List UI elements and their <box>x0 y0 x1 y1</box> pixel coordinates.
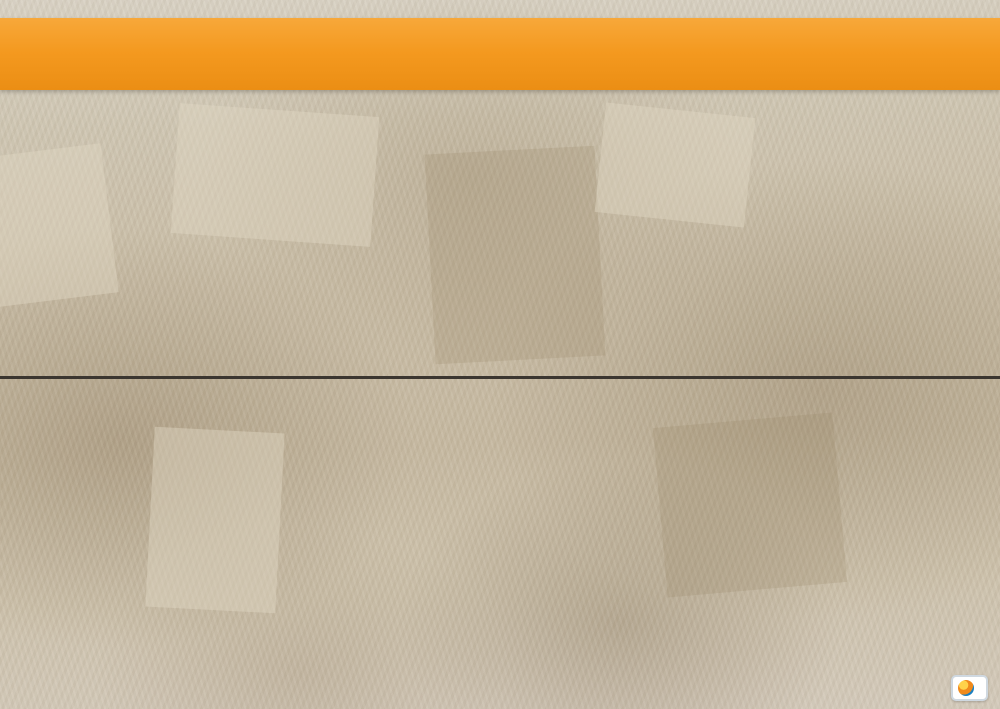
daydream-logo <box>951 675 988 703</box>
bg-ghost-sign <box>595 102 756 227</box>
bg-ghost-sign <box>0 143 119 307</box>
timeline-spine <box>0 376 1000 379</box>
bg-ghost-sign <box>425 146 606 365</box>
daydream-mark-icon <box>958 680 974 696</box>
logo-chip <box>951 675 988 701</box>
bg-ghost-sign <box>653 412 847 597</box>
poster-header <box>0 18 1000 90</box>
bg-ghost-sign <box>171 103 380 247</box>
bg-ghost-sign <box>145 427 284 614</box>
poster-canvas <box>0 0 1000 709</box>
